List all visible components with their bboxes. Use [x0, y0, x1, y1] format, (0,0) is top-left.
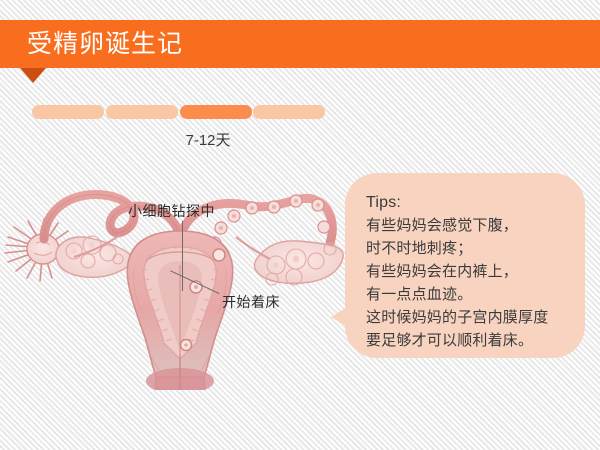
- progress-caption: 7-12天: [148, 129, 268, 150]
- header-pointer-triangle: [20, 68, 46, 83]
- tips-text: Tips: 有些妈妈会感觉下腹， 时不时地刺疼； 有些妈妈会在内裤上， 有一点点…: [366, 192, 582, 352]
- ovum-entering-uterus: [213, 249, 225, 261]
- tips-heading: Tips:: [366, 192, 582, 214]
- tips-bubble-tail: [331, 306, 349, 328]
- tips-line-3: 有些妈妈会在内裤上，: [366, 260, 582, 283]
- page-title: 受精卵诞生记: [27, 28, 183, 60]
- tips-line-5: 这时候妈妈的子宫内膜厚度: [366, 306, 582, 329]
- leader-line-cell: [182, 221, 183, 291]
- infographic-canvas: 受精卵诞生记 7-12天: [0, 0, 600, 450]
- tips-line-1: 有些妈妈会感觉下腹，: [366, 214, 582, 237]
- progress-step-4[interactable]: [253, 105, 325, 119]
- label-cell-drilling: 小细胞钻探中: [128, 201, 215, 221]
- progress-step-2[interactable]: [106, 105, 178, 119]
- uterus-diagram: [0, 165, 350, 390]
- tips-line-6: 要足够才可以顺利着床。: [366, 329, 582, 352]
- progress-steps: [32, 105, 332, 121]
- progress-step-1[interactable]: [32, 105, 104, 119]
- ovary-left: [56, 236, 132, 277]
- tips-line-2: 时不时地刺疼；: [366, 237, 582, 260]
- progress-step-3-active[interactable]: [180, 105, 252, 119]
- label-implantation-start: 开始着床: [222, 292, 280, 312]
- ovary-right: [254, 241, 343, 285]
- tips-line-4: 有一点点血迹。: [366, 283, 582, 306]
